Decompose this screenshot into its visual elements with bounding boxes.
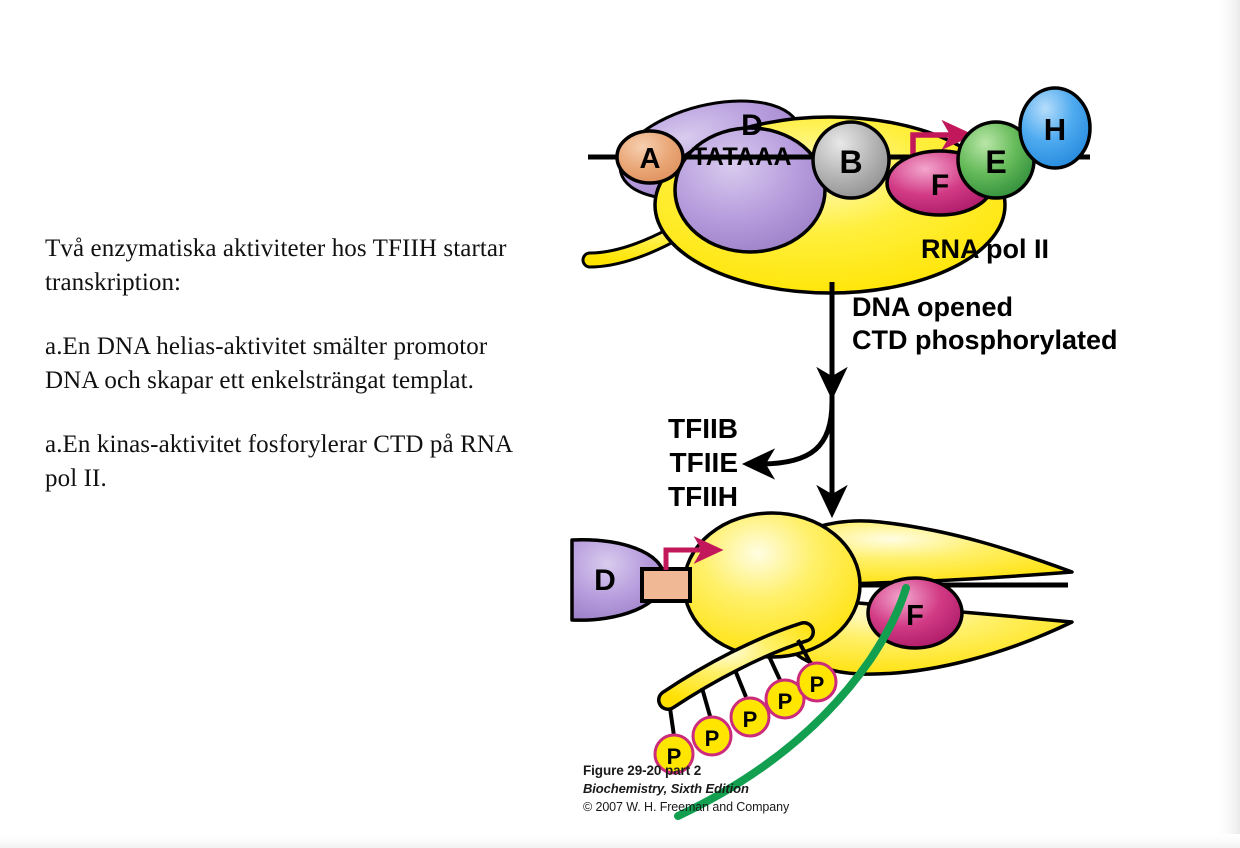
factor-label-E-top: E xyxy=(985,144,1006,180)
figure-caption: Figure 29-20 part 2 Biochemistry, Sixth … xyxy=(583,762,923,816)
phosphate-label: P xyxy=(743,707,758,732)
phosphate-circle: P xyxy=(731,698,769,736)
transition-label-ctd-phosphorylated: CTD phosphorylated xyxy=(852,325,1118,355)
phosphate-circle: P xyxy=(693,717,731,755)
paragraph-kinase: a.En kinas-aktivitet fosforylerar CTD på… xyxy=(45,428,515,496)
paragraph-intro: Två enzymatiska aktiviteter hos TFIIH st… xyxy=(45,232,515,300)
released-factor-label-tfiih: TFIIH xyxy=(668,481,738,512)
released-factor-label-tfiib: TFIIB xyxy=(668,413,738,444)
rna-pol-ii-label-top: RNA pol II xyxy=(921,234,1049,264)
transition-panel: DNA opened CTD phosphorylated TFIIB TFII… xyxy=(668,282,1118,512)
factor-release-arrow xyxy=(760,402,832,464)
phosphate-label: P xyxy=(810,672,825,697)
factor-label-B-top: B xyxy=(839,144,862,180)
body-text-block: Två enzymatiska aktiviteter hos TFIIH st… xyxy=(45,232,515,496)
factor-label-D-bottom: D xyxy=(594,564,616,597)
phosphate-label: P xyxy=(705,726,720,751)
factor-label-H-top: H xyxy=(1044,112,1066,147)
slide-canvas: Två enzymatiska aktiviteter hos TFIIH st… xyxy=(0,0,1240,848)
factor-label-F-top: F xyxy=(931,169,949,202)
phosphate-circle: P xyxy=(798,663,836,701)
top-complex-panel: TATAAA A D B F E H xyxy=(588,84,1090,293)
tata-box-label: TATAAA xyxy=(692,143,792,171)
factor-label-A-top: A xyxy=(640,143,661,175)
viewer-bottom-edge xyxy=(0,834,1240,848)
caption-figure-number: Figure 29-20 part 2 xyxy=(583,762,923,780)
paragraph-helicase: a.En DNA helias-aktivitet smälter promot… xyxy=(45,330,515,398)
factor-label-D-top: D xyxy=(741,109,763,142)
caption-copyright: © 2007 W. H. Freeman and Company xyxy=(583,798,923,816)
promoter-box xyxy=(642,569,690,601)
viewer-right-edge xyxy=(1218,0,1240,848)
caption-book-title: Biochemistry, Sixth Edition xyxy=(583,780,923,798)
phosphate-label: P xyxy=(778,689,793,714)
released-factor-label-tfiie: TFIIE xyxy=(670,447,738,478)
figure-illustration: TATAAA A D B F E H xyxy=(560,60,1120,820)
factor-label-F-bottom: F xyxy=(906,600,924,632)
transition-label-dna-opened: DNA opened xyxy=(852,292,1013,322)
